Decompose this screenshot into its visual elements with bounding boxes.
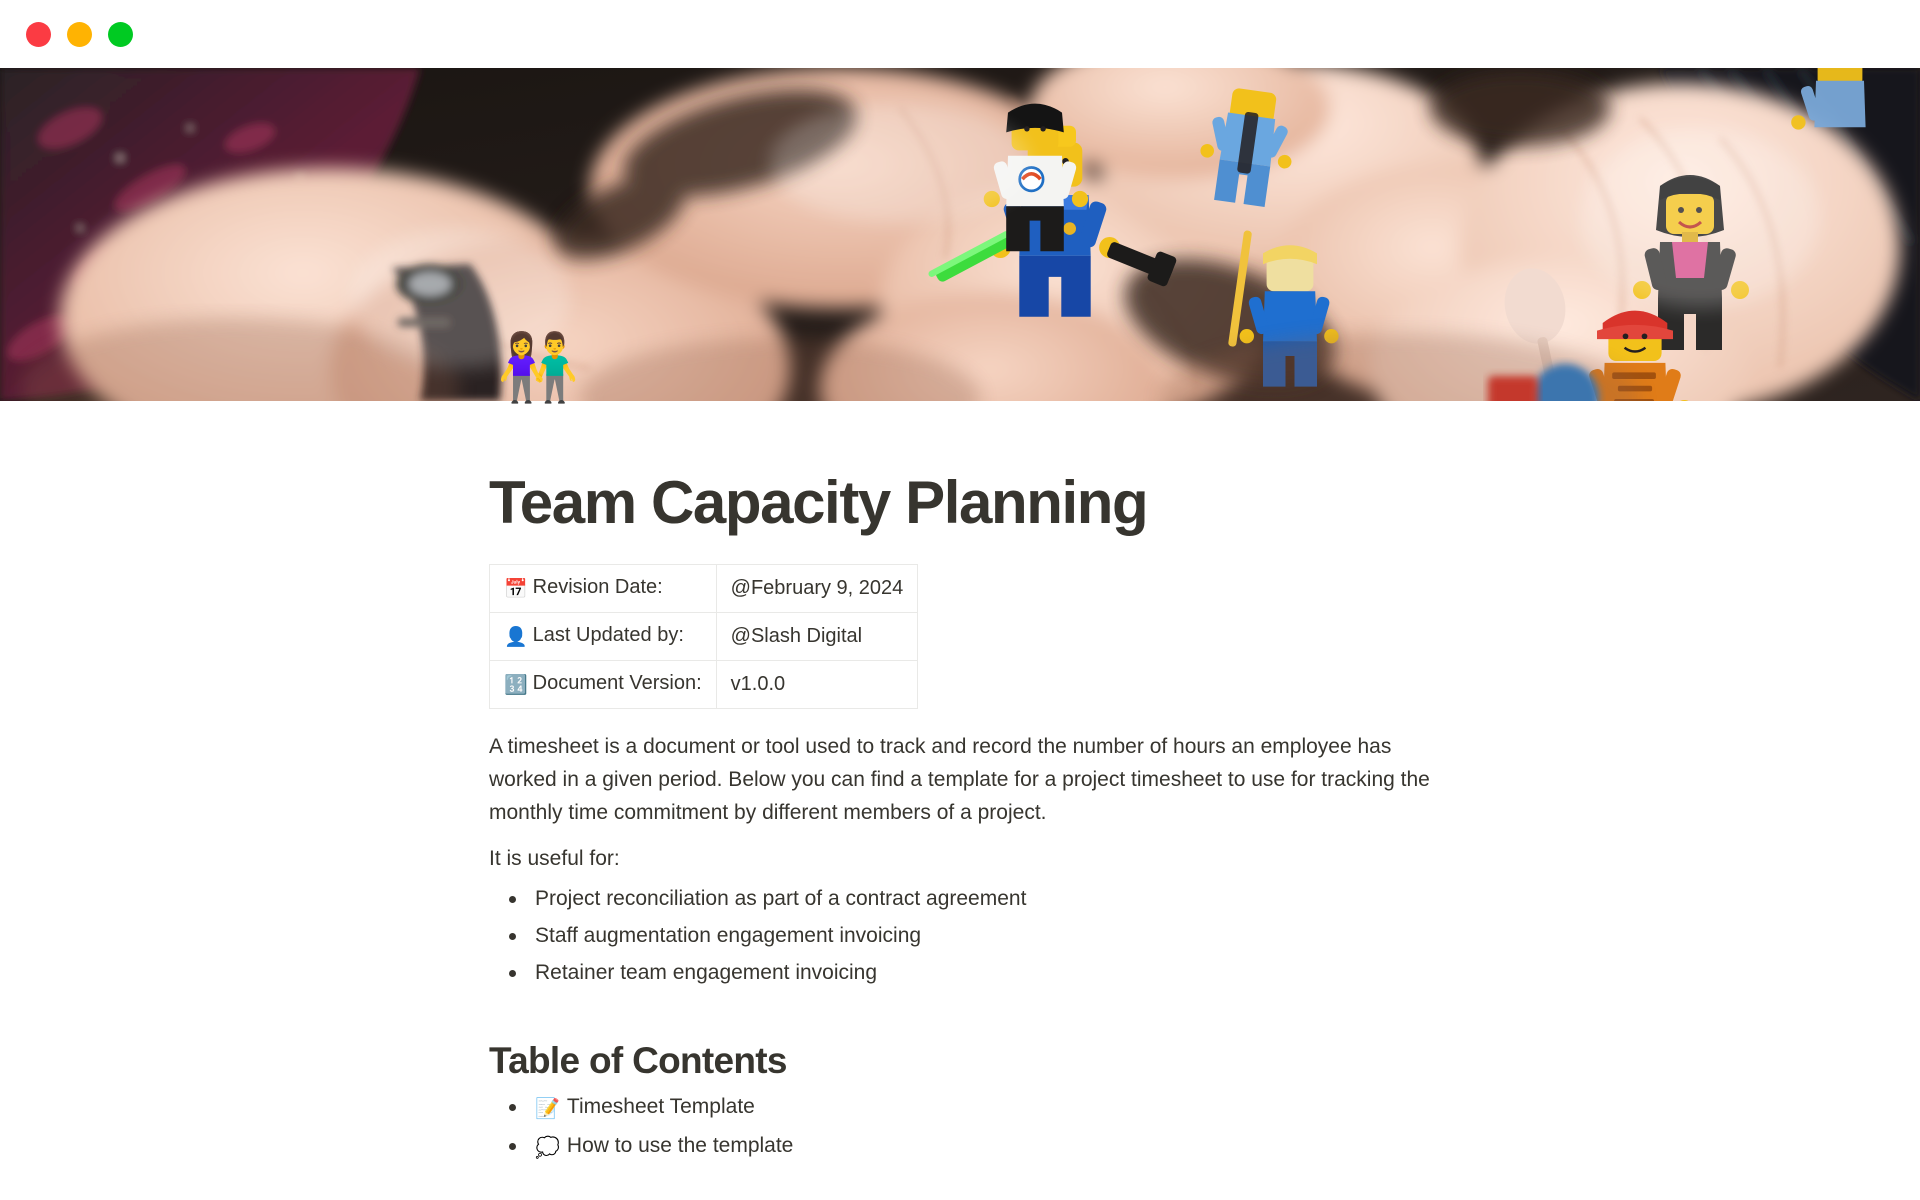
list-item[interactable]: 💭How to use the template: [535, 1128, 1489, 1167]
table-of-contents-heading[interactable]: Table of Contents: [489, 992, 1489, 1083]
table-row[interactable]: 📅Revision Date: @February 9, 2024: [490, 565, 918, 613]
list-item[interactable]: Project reconciliation as part of a cont…: [535, 881, 1489, 918]
close-window-button[interactable]: [26, 22, 51, 47]
page-cover-image[interactable]: [0, 68, 1920, 401]
page-title[interactable]: Team Capacity Planning: [489, 401, 1489, 534]
page-icon-emoji[interactable]: 👫: [497, 331, 579, 403]
metadata-value-cell[interactable]: v1.0.0: [716, 661, 918, 709]
metadata-key-cell[interactable]: 🔢Document Version:: [490, 661, 717, 709]
table-of-contents-list: 📝Timesheet Template 💭How to use the temp…: [489, 1089, 1489, 1167]
list-item[interactable]: Staff augmentation engagement invoicing: [535, 918, 1489, 955]
intro-paragraph[interactable]: A timesheet is a document or tool used t…: [489, 709, 1449, 829]
content-column: Team Capacity Planning 📅Revision Date: @…: [489, 401, 1489, 1167]
metadata-key-label: Document Version:: [533, 672, 702, 694]
list-item[interactable]: Retainer team engagement invoicing: [535, 955, 1489, 992]
list-item[interactable]: 📝Timesheet Template: [535, 1089, 1489, 1128]
memo-icon: 📝: [535, 1096, 560, 1122]
metadata-key-label: Revision Date:: [533, 576, 663, 598]
useful-for-lead-in[interactable]: It is useful for:: [489, 829, 1449, 875]
window-titlebar: [0, 0, 1920, 68]
metadata-key-label: Last Updated by:: [533, 624, 684, 646]
toc-item-label[interactable]: Timesheet Template: [567, 1095, 755, 1118]
person-icon: 👤: [504, 625, 528, 649]
document-metadata-table[interactable]: 📅Revision Date: @February 9, 2024 👤Last …: [489, 564, 918, 709]
table-row[interactable]: 🔢Document Version: v1.0.0: [490, 661, 918, 709]
metadata-key-cell[interactable]: 👤Last Updated by:: [490, 613, 717, 661]
table-row[interactable]: 👤Last Updated by: @Slash Digital: [490, 613, 918, 661]
calendar-icon: 📅: [504, 577, 528, 601]
traffic-light-group: [26, 22, 133, 47]
thought-balloon-icon: 💭: [535, 1135, 560, 1161]
input-numbers-icon: 🔢: [504, 673, 528, 697]
cover-photo-illustration: [0, 68, 1920, 401]
metadata-value-cell[interactable]: @Slash Digital: [716, 613, 918, 661]
metadata-key-cell[interactable]: 📅Revision Date:: [490, 565, 717, 613]
page-body: Team Capacity Planning 📅Revision Date: @…: [0, 401, 1920, 1200]
metadata-value-cell[interactable]: @February 9, 2024: [716, 565, 918, 613]
maximize-window-button[interactable]: [108, 22, 133, 47]
toc-item-label[interactable]: How to use the template: [567, 1134, 793, 1157]
useful-for-list: Project reconciliation as part of a cont…: [489, 881, 1489, 992]
minimize-window-button[interactable]: [67, 22, 92, 47]
